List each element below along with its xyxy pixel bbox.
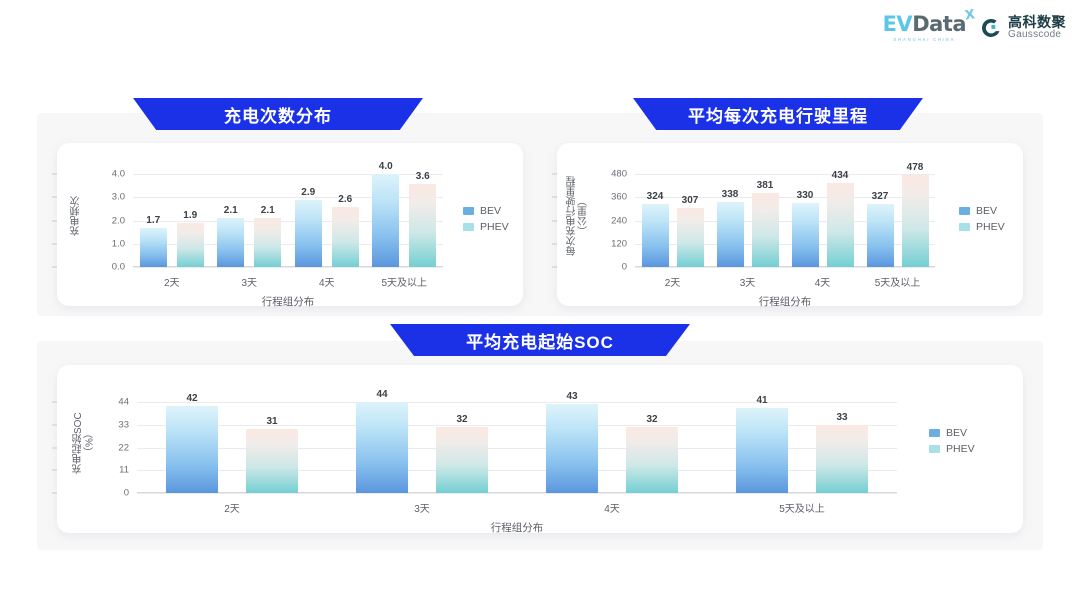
bar-value-label: 434 [832,170,849,181]
legend-swatch-bev-icon [929,429,940,437]
legend-swatch-bev-icon [959,207,970,215]
bar-phev-2[interactable] [332,207,359,267]
y-tick-mark [552,243,557,244]
bar-bev-2[interactable] [792,203,819,267]
dashboard-page: EVData X SHANGHAI CHINA 高科数聚 Gausscode 充… [0,0,1080,608]
bar-value-label: 3.6 [416,171,430,182]
y-axis-label: 每次充电行驶里程 （公里） [567,165,590,267]
y-axis-label: 充电频次 [71,165,83,267]
bar-value-label: 31 [266,416,277,427]
evdata-ev-text: EV [883,12,913,36]
y-tick-label: 0 [591,262,627,273]
y-tick-mark [52,424,57,425]
legend-item-phev[interactable]: PHEV [463,221,509,233]
bar-phev-3[interactable] [816,425,868,493]
bar-phev-2[interactable] [626,427,678,493]
y-tick-mark [552,197,557,198]
plot-area [133,165,443,267]
legend-item-phev[interactable]: PHEV [959,221,1005,233]
plot-area [137,393,897,493]
gausscode-text-block: 高科数聚 Gausscode [1008,15,1066,40]
bar-value-label: 478 [907,162,924,173]
bar-value-label: 324 [647,191,664,202]
y-tick-label: 0 [93,488,129,499]
bar-bev-2[interactable] [546,404,598,493]
bar-value-label: 32 [646,414,657,425]
bar-value-label: 4.0 [379,161,393,172]
bar-value-label: 32 [456,414,467,425]
bar-bev-0[interactable] [140,228,167,267]
legend-item-bev[interactable]: BEV [929,427,975,439]
bar-value-label: 1.7 [146,215,160,226]
legend-label: BEV [976,205,997,217]
gridline [635,267,935,268]
bar-value-label: 338 [722,189,739,200]
x-tick-label: 4天 [319,274,335,289]
bar-phev-3[interactable] [409,184,436,267]
legend-swatch-bev-icon [463,207,474,215]
chart-card-charging-frequency: 充电频次0.01.02.03.04.01.71.92天2.12.13天2.92.… [57,143,523,306]
bar-phev-1[interactable] [436,427,488,493]
legend-label: PHEV [946,443,975,455]
bar-value-label: 44 [376,389,387,400]
x-tick-label: 4天 [815,274,831,289]
bar-phev-1[interactable] [254,218,281,267]
y-tick-label: 360 [591,192,627,203]
x-tick-label: 3天 [740,274,756,289]
legend-swatch-phev-icon [959,223,970,231]
gridline [133,267,443,268]
x-tick-label: 5天及以上 [875,274,921,289]
bar-bev-0[interactable] [642,204,669,267]
gridline [635,197,935,198]
x-tick-label: 3天 [241,274,257,289]
gausscode-logo: 高科数聚 Gausscode [980,15,1066,40]
y-tick-mark [52,220,57,221]
bar-value-label: 381 [757,180,774,191]
evdata-wordmark: EVData X [883,14,966,35]
bar-phev-0[interactable] [177,223,204,267]
y-tick-label: 33 [93,419,129,430]
bar-value-label: 2.9 [301,187,315,198]
bar-bev-0[interactable] [166,406,218,493]
y-tick-label: 480 [591,169,627,180]
y-tick-label: 120 [591,238,627,249]
bar-value-label: 1.9 [183,210,197,221]
x-axis-label: 行程组分布 [491,520,544,535]
gausscode-name-en: Gausscode [1008,30,1066,41]
legend-swatch-phev-icon [463,223,474,231]
bar-phev-2[interactable] [827,183,854,267]
legend-label: BEV [946,427,967,439]
bar-bev-1[interactable] [717,202,744,267]
gausscode-name-cn: 高科数聚 [1008,15,1066,30]
legend-item-bev[interactable]: BEV [959,205,1005,217]
y-tick-mark [52,243,57,244]
legend-item-phev[interactable]: PHEV [929,443,975,455]
bar-phev-0[interactable] [246,429,298,493]
legend-label: PHEV [480,221,509,233]
y-tick-label: 3.0 [89,192,125,203]
y-tick-label: 11 [93,465,129,476]
x-tick-label: 5天及以上 [779,500,825,515]
chart-card-avg-start-soc: 充电起始SOC （%）01122334442312天44323天43324天41… [57,365,1023,533]
y-tick-label: 4.0 [89,169,125,180]
bar-value-label: 2.1 [224,205,238,216]
evdata-data-text: Data [912,12,966,36]
y-tick-label: 0.0 [89,262,125,273]
x-axis-label: 行程组分布 [759,294,812,309]
legend-label: BEV [480,205,501,217]
chart-title-avg-start-soc: 平均充电起始SOC [390,324,690,356]
bar-value-label: 43 [566,391,577,402]
x-tick-label: 2天 [665,274,681,289]
chart-charging-frequency: 充电频次0.01.02.03.04.01.71.92天2.12.13天2.92.… [57,143,523,306]
y-tick-mark [52,447,57,448]
gridline [635,174,935,175]
bar-phev-1[interactable] [752,193,779,267]
y-tick-label: 240 [591,215,627,226]
chart-legend: BEVPHEV [463,205,509,233]
y-tick-mark [52,267,57,268]
y-tick-mark [52,402,57,403]
chart-avg-mileage: 每次充电行驶里程 （公里）01202403604803243072天338381… [557,143,1023,306]
bar-bev-3[interactable] [372,174,399,267]
x-tick-label: 2天 [164,274,180,289]
logo-bar: EVData X SHANGHAI CHINA 高科数聚 Gausscode [883,14,1066,42]
gridline [137,402,897,403]
bar-bev-1[interactable] [217,218,244,267]
bar-bev-2[interactable] [295,200,322,267]
y-tick-mark [552,220,557,221]
bar-value-label: 41 [756,395,767,406]
gridline [137,493,897,494]
y-tick-mark [52,470,57,471]
evdata-logo: EVData X SHANGHAI CHINA [883,14,966,42]
bar-value-label: 307 [682,195,699,206]
x-tick-label: 4天 [604,500,620,515]
bar-value-label: 2.1 [261,205,275,216]
bar-bev-3[interactable] [736,408,788,493]
y-tick-label: 22 [93,442,129,453]
bar-phev-0[interactable] [677,208,704,267]
y-tick-label: 2.0 [89,215,125,226]
plot-area [635,165,935,267]
y-tick-mark [552,174,557,175]
evdata-x-superscript-icon: X [965,8,976,22]
legend-swatch-phev-icon [929,445,940,453]
evdata-subtitle: SHANGHAI CHINA [893,37,955,42]
y-tick-mark [52,174,57,175]
bar-phev-3[interactable] [902,175,929,267]
chart-legend: BEVPHEV [959,205,1005,233]
legend-label: PHEV [976,221,1005,233]
chart-avg-start-soc: 充电起始SOC （%）01122334442312天44323天43324天41… [57,365,1023,533]
chart-title-charging-frequency: 充电次数分布 [133,98,423,130]
bar-bev-1[interactable] [356,402,408,493]
y-tick-mark [52,197,57,198]
gausscode-logo-icon [980,17,1002,39]
x-tick-label: 3天 [414,500,430,515]
bar-value-label: 330 [797,190,814,201]
bar-value-label: 327 [872,191,889,202]
y-tick-mark [552,267,557,268]
bar-value-label: 2.6 [338,194,352,205]
chart-title-avg-mileage: 平均每次充电行驶里程 [633,98,923,130]
y-tick-label: 1.0 [89,238,125,249]
x-tick-label: 2天 [224,500,240,515]
bar-value-label: 33 [836,412,847,423]
bar-value-label: 42 [186,393,197,404]
bar-bev-3[interactable] [867,204,894,267]
legend-item-bev[interactable]: BEV [463,205,509,217]
x-axis-label: 行程组分布 [262,294,315,309]
x-tick-label: 5天及以上 [381,274,427,289]
y-tick-mark [52,493,57,494]
chart-legend: BEVPHEV [929,427,975,455]
y-tick-label: 44 [93,397,129,408]
chart-card-avg-mileage: 每次充电行驶里程 （公里）01202403604803243072天338381… [557,143,1023,306]
